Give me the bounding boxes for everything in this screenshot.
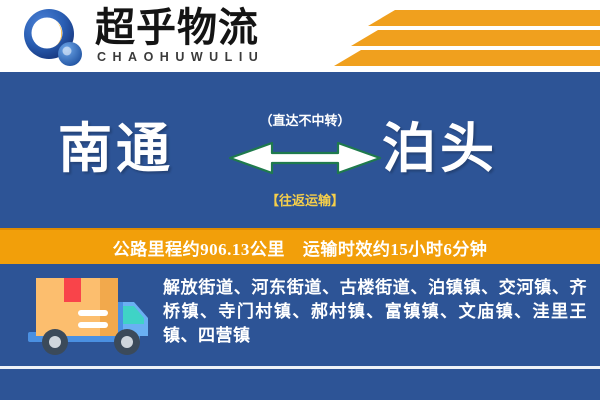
delivery-truck-icon [22, 274, 152, 358]
route-section: 南通 （直达不中转） 【往返运输】 泊头 [0, 88, 600, 228]
brand-name-cn: 超乎物流 [95, 6, 259, 50]
distance-mileage: 公路里程约906.13公里 [113, 235, 285, 260]
distance-bar: 公路里程约906.13公里 运输时效约15小时6分钟 [0, 228, 600, 264]
distance-duration: 运输时效约15小时6分钟 [303, 235, 488, 260]
bidirectional-arrow-icon [226, 136, 384, 185]
circular-q-logo-icon [22, 8, 84, 70]
logistics-route-banner: 超乎物流 CHAOHUWULIU 南通 （直达不中转） 【往返运输】 [0, 0, 600, 400]
coverage-area-list: 解放街道、河东街道、古楼街道、泊镇镇、交河镇、齐桥镇、寺门村镇、郝村镇、富镇镇、… [163, 276, 587, 348]
brand-name-en: CHAOHUWULIU [97, 50, 264, 64]
route-arrow-group: （直达不中转） 【往返运输】 [232, 102, 378, 214]
speed-stripes-icon [310, 0, 600, 72]
destination-city: 泊头 [382, 116, 498, 182]
route-caption-top: （直达不中转） [232, 110, 378, 129]
footer-area [0, 369, 600, 400]
route-caption-bottom: 【往返运输】 [232, 190, 378, 209]
header-divider [0, 72, 600, 88]
origin-city: 南通 [58, 116, 174, 182]
coverage-section: 解放街道、河东街道、古楼街道、泊镇镇、交河镇、齐桥镇、寺门村镇、郝村镇、富镇镇、… [0, 264, 600, 368]
banner-header: 超乎物流 CHAOHUWULIU [0, 0, 600, 72]
